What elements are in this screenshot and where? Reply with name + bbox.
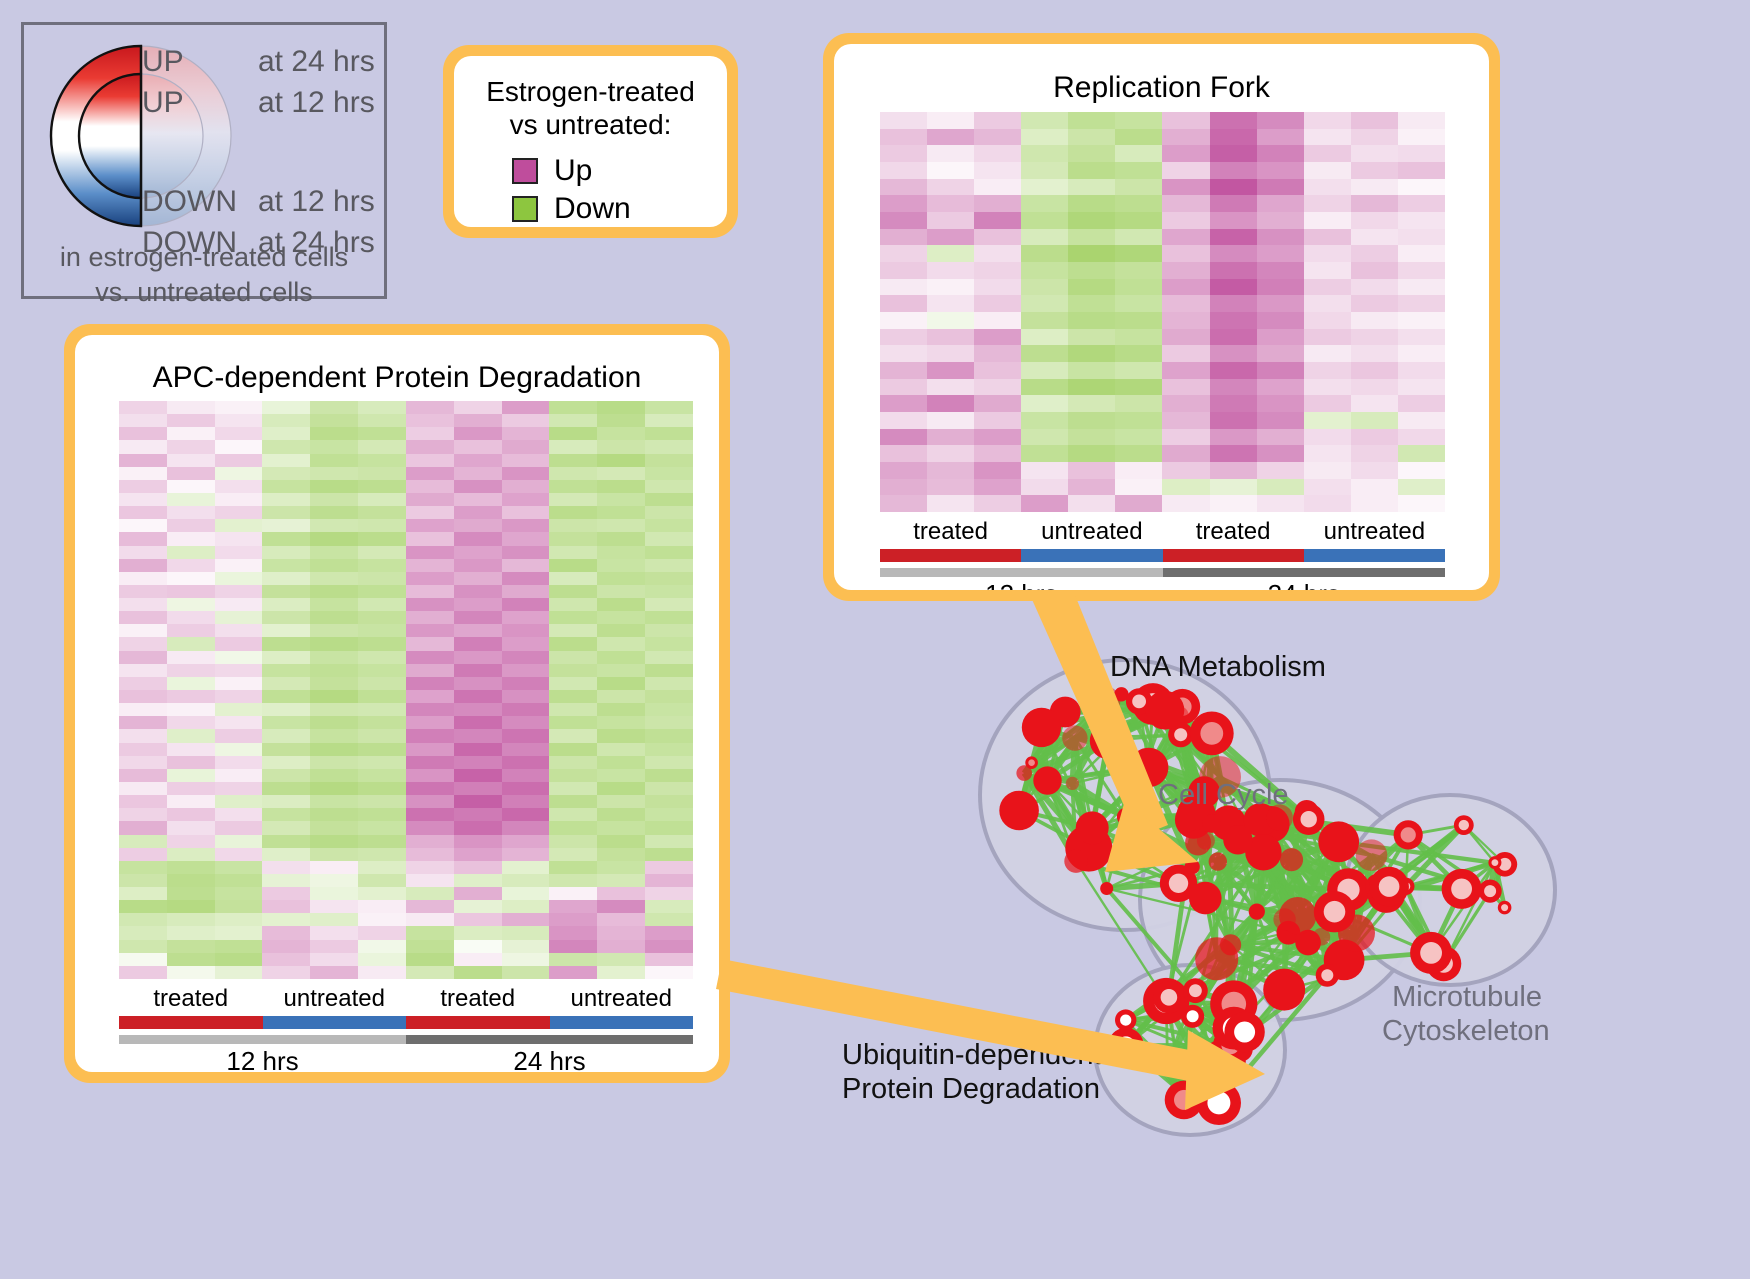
legend-item-down: Down xyxy=(512,190,631,227)
color-key-row xyxy=(142,127,392,185)
column-label: untreated xyxy=(1021,518,1162,546)
cluster-label-line2: Protein Degradation xyxy=(842,1072,1102,1106)
column-label: untreated xyxy=(263,985,407,1013)
color-key-row: UP at 24 hrs xyxy=(142,45,392,86)
apc-time-labels: 12 hrs 24 hrs xyxy=(119,1046,693,1072)
color-key-direction: UP xyxy=(142,86,258,120)
cluster-label-line1: Ubiquitin-dependent xyxy=(842,1038,1102,1072)
color-key-time: at 12 hrs xyxy=(258,86,375,120)
legend-panel-inner: Estrogen-treated vs untreated: Up Down xyxy=(454,56,727,227)
replication-fork-time-bar xyxy=(880,568,1445,577)
column-label: treated xyxy=(1163,518,1304,546)
cluster-label-line1: Microtubule xyxy=(1382,980,1542,1014)
column-label: untreated xyxy=(1304,518,1445,546)
cluster-label-ubiquitin-degradation: Ubiquitin-dependent Protein Degradation xyxy=(842,1038,1102,1106)
color-key-box: UP at 24 hrs UP at 12 hrs DOWN at 12 hrs… xyxy=(21,22,387,299)
legend-swatch-down-icon xyxy=(512,196,538,222)
legend-label-up: Up xyxy=(554,154,592,188)
column-label: treated xyxy=(880,518,1021,546)
time-label: 12 hrs xyxy=(119,1046,406,1072)
apc-panel-inner: APC-dependent Protein Degradation treate… xyxy=(75,335,719,1072)
color-key-row: UP at 12 hrs xyxy=(142,86,392,127)
legend-title: Estrogen-treated vs untreated: xyxy=(454,76,727,142)
color-key-footnote-line1: in estrogen-treated cells xyxy=(24,240,384,275)
apc-panel: APC-dependent Protein Degradation treate… xyxy=(64,324,730,1083)
color-key-row: DOWN at 12 hrs xyxy=(142,185,392,226)
color-key-footnote: in estrogen-treated cells vs. untreated … xyxy=(24,240,384,309)
replication-fork-treatment-bar xyxy=(880,549,1445,562)
column-label: untreated xyxy=(550,985,694,1013)
replication-fork-panel: Replication Fork treated untreated treat… xyxy=(823,33,1500,601)
replication-fork-time-labels: 12 hrs 24 hrs xyxy=(880,579,1445,590)
apc-column-labels: treated untreated treated untreated xyxy=(119,985,693,1013)
legend-title-line1: Estrogen-treated xyxy=(454,76,727,109)
network-graph xyxy=(790,610,1740,1270)
color-key-time: at 24 hrs xyxy=(258,45,375,79)
color-key-direction: DOWN xyxy=(142,185,258,219)
legend-title-line2: vs untreated: xyxy=(454,109,727,142)
apc-title: APC-dependent Protein Degradation xyxy=(75,361,719,395)
replication-fork-column-labels: treated untreated treated untreated xyxy=(880,518,1445,546)
figure-root: UP at 24 hrs UP at 12 hrs DOWN at 12 hrs… xyxy=(0,0,1750,1279)
replication-fork-heatmap xyxy=(880,112,1445,512)
pathway-network: DNA Metabolism Cell Cycle Microtubule Cy… xyxy=(790,610,1740,1270)
apc-treatment-bar xyxy=(119,1016,693,1029)
time-label: 24 hrs xyxy=(1163,579,1446,590)
cluster-label-dna-metabolism: DNA Metabolism xyxy=(1110,650,1326,684)
column-label: treated xyxy=(119,985,263,1013)
time-label: 24 hrs xyxy=(406,1046,693,1072)
legend-label-down: Down xyxy=(554,192,631,226)
color-key-footnote-line2: vs. untreated cells xyxy=(24,275,384,310)
legend-panel: Estrogen-treated vs untreated: Up Down xyxy=(443,45,738,238)
legend-item-up: Up xyxy=(512,152,631,190)
color-key-direction: UP xyxy=(142,45,258,79)
replication-fork-panel-inner: Replication Fork treated untreated treat… xyxy=(834,44,1489,590)
color-key-rows: UP at 24 hrs UP at 12 hrs DOWN at 12 hrs… xyxy=(142,45,392,267)
cluster-label-cell-cycle: Cell Cycle xyxy=(1158,778,1289,812)
apc-heatmap xyxy=(119,401,693,979)
legend-swatch-up-icon xyxy=(512,158,538,184)
cluster-label-microtubule-cytoskeleton: Microtubule Cytoskeleton xyxy=(1382,980,1542,1048)
color-key-time: at 12 hrs xyxy=(258,185,375,219)
time-label: 12 hrs xyxy=(880,579,1163,590)
apc-time-bar xyxy=(119,1035,693,1044)
legend-items: Up Down xyxy=(512,152,631,227)
replication-fork-title: Replication Fork xyxy=(834,71,1489,105)
cluster-label-line2: Cytoskeleton xyxy=(1382,1014,1542,1048)
column-label: treated xyxy=(406,985,550,1013)
